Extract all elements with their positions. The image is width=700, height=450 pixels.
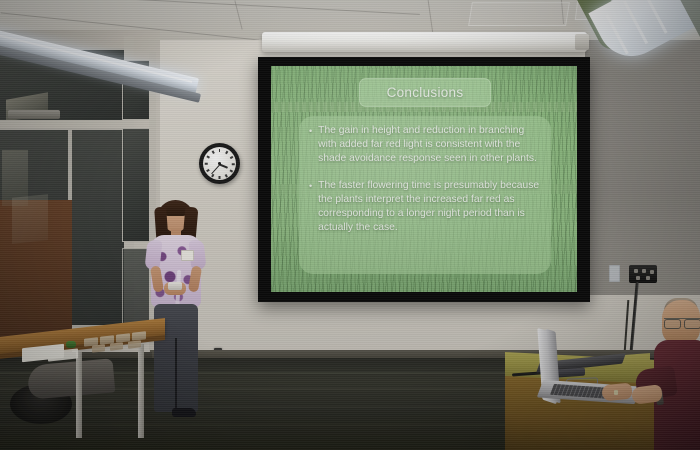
projected-slide: Conclusions • The gain in height and red…: [271, 66, 577, 292]
wall-panel-dark[interactable]: [629, 265, 657, 283]
clock-minute-hand: [211, 164, 220, 174]
slide-bullet-text: The faster flowering time is presumably …: [318, 179, 541, 236]
table-left-leg-back: [138, 344, 144, 438]
presenter-leg-seam: [175, 338, 177, 412]
slide-bullet: • The faster flowering time is presumabl…: [309, 179, 541, 236]
clock-center-pin: [218, 162, 221, 165]
projector-screen-roller: [262, 32, 587, 52]
slide-title: Conclusions: [387, 85, 464, 100]
man-glasses: [664, 318, 700, 328]
projector-screen-roller-cap: [575, 34, 589, 50]
slide-bullet-text: The gain in height and reduction in bran…: [318, 124, 541, 167]
presenter-remote-clicker: [168, 282, 182, 290]
classroom-presentation-photo: Conclusions • The gain in height and red…: [0, 0, 700, 450]
man-ring: [614, 390, 618, 395]
table-left-leg-front: [76, 352, 82, 438]
table-brochure[interactable]: [128, 340, 141, 348]
bullet-glyph: •: [309, 124, 312, 167]
audience-member: [630, 300, 700, 450]
table-brochure[interactable]: [110, 342, 123, 350]
presenter-shoe: [172, 408, 196, 417]
wall-clock: [199, 143, 240, 184]
slide-title-box: Conclusions: [359, 78, 491, 107]
clock-face: [203, 147, 236, 180]
table-brochure[interactable]: [92, 344, 105, 352]
bullet-glyph: •: [309, 179, 312, 236]
presenter: [140, 198, 210, 426]
table-brochure[interactable]: [132, 331, 146, 340]
green-object[interactable]: [66, 341, 76, 348]
right-wall-shadowed: [585, 40, 700, 295]
door-closer: [8, 110, 60, 119]
slide-body-box: • The gain in height and reduction in br…: [299, 116, 551, 274]
light-switch[interactable]: [609, 265, 620, 282]
slide-bullet: • The gain in height and reduction in br…: [309, 124, 541, 167]
presenter-name-badge: [181, 250, 194, 261]
